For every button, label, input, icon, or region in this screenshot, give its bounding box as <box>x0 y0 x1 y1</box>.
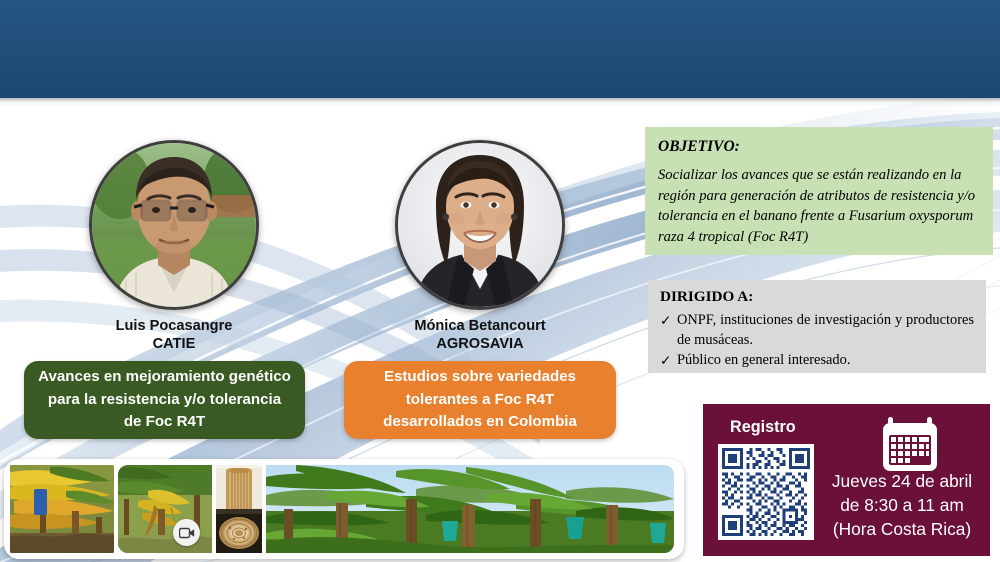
registration-heading: Registro <box>730 418 796 437</box>
speaker-org-2: AGROSAVIA <box>392 335 568 353</box>
speaker-name-2: Mónica Betancourt <box>392 317 568 335</box>
speaker-card-2: Mónica Betancourt AGROSAVIA <box>392 140 568 353</box>
date-line-3: (Hora Costa Rica) <box>821 517 983 541</box>
speaker-card-1: Luis Pocasangre CATIE <box>86 140 262 353</box>
list-item: ✓ Público en general interesado. <box>660 351 974 371</box>
photo-diseased-banana-plants <box>10 465 114 553</box>
date-line-1: Jueves 24 de abril <box>821 469 983 493</box>
videoconference-poster: VIDEOCONFERENCIA PARA EL INTERCAMBIO DE … <box>0 0 1000 562</box>
header-shadow <box>0 98 1000 107</box>
date-line-2: de 8:30 a 11 am <box>821 493 983 517</box>
audience-list: ✓ ONPF, instituciones de investigación y… <box>660 311 974 371</box>
speaker-name-1: Luis Pocasangre <box>86 317 262 335</box>
photo-healthy-banana-plantation <box>266 465 674 553</box>
speaker-photo-luis-pocasangre <box>89 140 259 310</box>
header-banner <box>0 0 1000 98</box>
photo-pseudostem-cross-sections <box>216 465 262 553</box>
audience-box: DIRIGIDO A: ✓ ONPF, instituciones de inv… <box>648 280 986 373</box>
registration-qr-code[interactable] <box>718 444 814 540</box>
registration-box: Registro <box>703 404 990 556</box>
objective-box: OBJETIVO: Socializar los avances que se … <box>645 127 993 255</box>
video-camera-icon <box>173 519 200 546</box>
talk-title-1: Avances en mejoramiento genético para la… <box>24 361 305 439</box>
audience-item-text: ONPF, instituciones de investigación y p… <box>677 311 974 350</box>
audience-heading: DIRIGIDO A: <box>660 288 974 306</box>
list-item: ✓ ONPF, instituciones de investigación y… <box>660 311 974 350</box>
photo-banana-field-wilting <box>118 465 212 553</box>
check-icon: ✓ <box>660 351 677 371</box>
check-icon: ✓ <box>660 311 677 331</box>
registration-date: Jueves 24 de abril de 8:30 a 11 am (Hora… <box>821 469 983 541</box>
talk-title-2: Estudios sobre variedades tolerantes a F… <box>344 361 616 439</box>
objective-heading: OBJETIVO: <box>658 138 980 156</box>
speaker-org-1: CATIE <box>86 335 262 353</box>
audience-item-text: Público en general interesado. <box>677 351 974 371</box>
photo-strip <box>4 459 684 559</box>
speaker-photo-monica-betancourt <box>395 140 565 310</box>
objective-body: Socializar los avances que se están real… <box>658 165 980 247</box>
